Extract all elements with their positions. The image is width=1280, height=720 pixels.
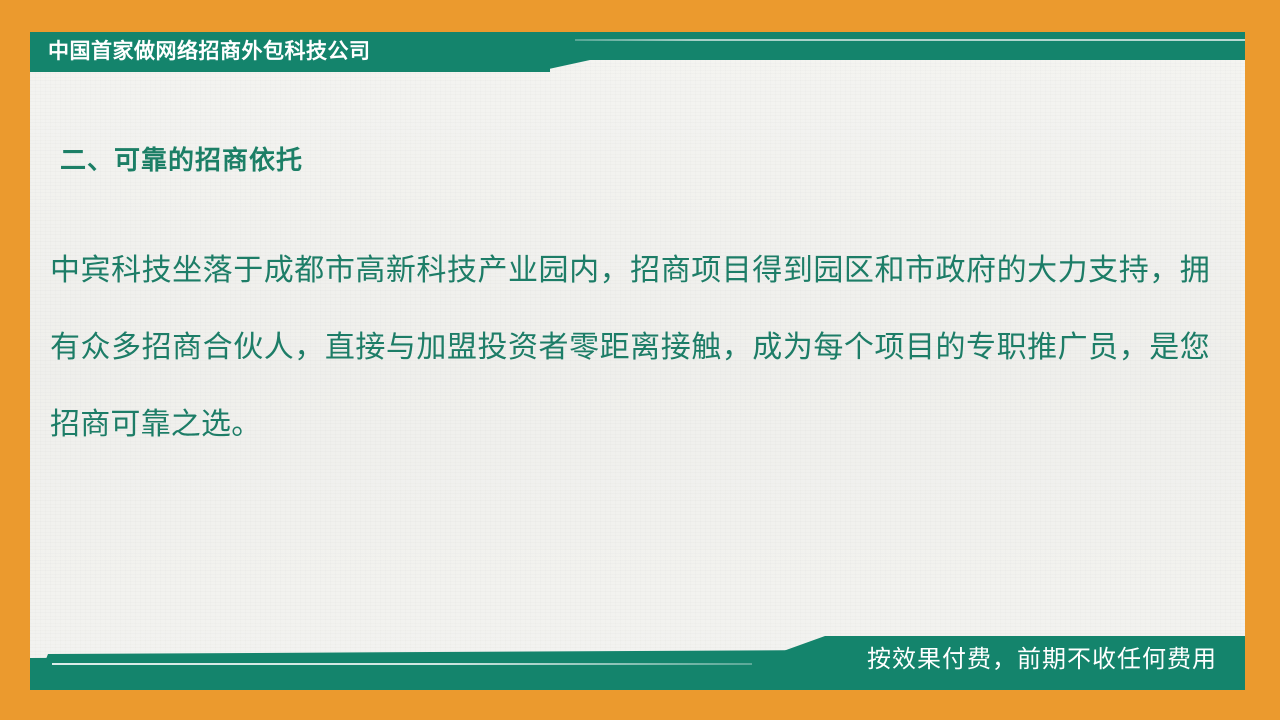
slide-root: 中国首家做网络招商外包科技公司 二、可靠的招商依托 中宾科技坐落于成都市高新科技… xyxy=(0,0,1280,720)
footer-accent-line xyxy=(52,663,752,665)
header-accent-line xyxy=(575,39,1245,41)
body-paragraph: 中宾科技坐落于成都市高新科技产业园内，招商项目得到园区和市政府的大力支持，拥有众… xyxy=(50,232,1210,463)
header-title: 中国首家做网络招商外包科技公司 xyxy=(48,32,371,72)
slide-canvas: 中国首家做网络招商外包科技公司 二、可靠的招商依托 中宾科技坐落于成都市高新科技… xyxy=(30,32,1245,690)
footer-tagline: 按效果付费，前期不收任何费用 xyxy=(867,636,1217,684)
section-heading: 二、可靠的招商依托 xyxy=(60,140,303,177)
footer-green-thin-bar xyxy=(30,632,830,690)
